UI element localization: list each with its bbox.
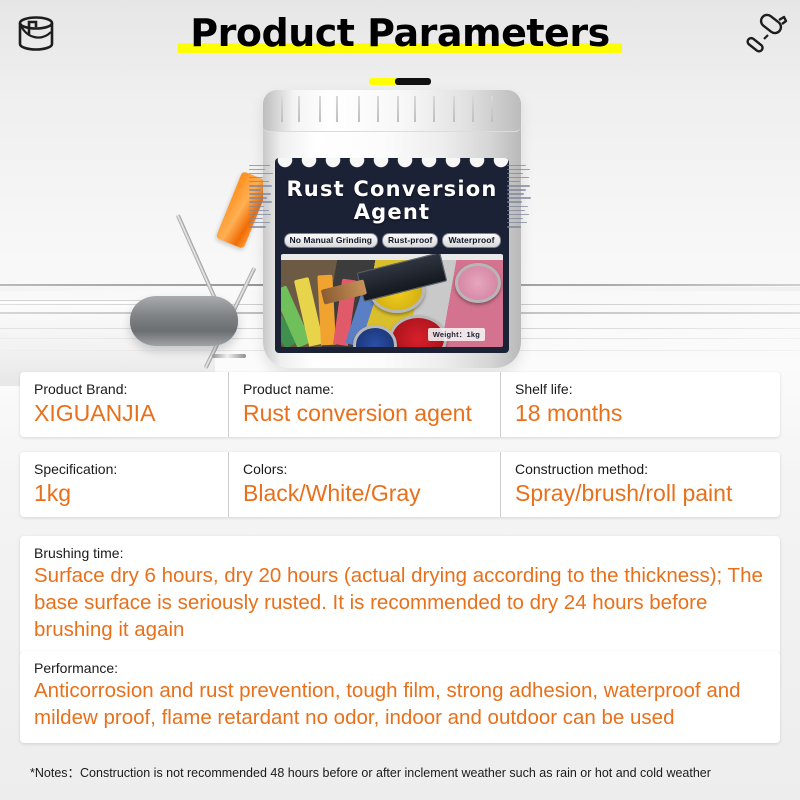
label-title: Rust Conversion Agent xyxy=(275,178,509,224)
paint-roller-icon xyxy=(738,8,790,60)
param-label: Performance: xyxy=(34,659,766,677)
param-value: Black/White/Gray xyxy=(243,478,500,508)
bucket-rim-ridges xyxy=(271,96,513,124)
label-badge: Waterproof xyxy=(442,233,500,248)
param-label: Construction method: xyxy=(515,460,780,478)
param-label: Product name: xyxy=(243,380,500,398)
label-wave-edge xyxy=(275,158,509,168)
page-title-text: Product Parameters xyxy=(190,11,609,55)
param-cell-shelf-life: Shelf life: 18 months xyxy=(500,372,780,437)
param-value: Rust conversion agent xyxy=(243,398,500,428)
page-title: Product Parameters xyxy=(0,6,800,60)
param-cell-product-name: Product name: Rust conversion agent xyxy=(228,372,500,437)
label-badge: No Manual Grinding xyxy=(284,233,379,248)
param-block-brushing-time: Brushing time: Surface dry 6 hours, dry … xyxy=(20,536,780,655)
param-value: 1kg xyxy=(34,478,228,508)
bucket-side-microtext-left xyxy=(249,162,275,352)
weight-tag: Weight：1kg xyxy=(428,328,485,341)
param-cell-product-brand: Product Brand: XIGUANJIA xyxy=(20,372,228,437)
bucket-side-microtext-right xyxy=(507,162,533,352)
header: Product Parameters xyxy=(0,0,800,92)
label-badges: No Manual GrindingRust-proofWaterproof xyxy=(275,230,509,248)
param-cell-colors: Colors: Black/White/Gray xyxy=(228,452,500,517)
param-value: XIGUANJIA xyxy=(34,398,228,428)
param-row-1: Product Brand: XIGUANJIA Product name: R… xyxy=(20,372,780,437)
param-value: Anticorrosion and rust prevention, tough… xyxy=(34,677,766,731)
param-label: Product Brand: xyxy=(34,380,228,398)
param-cell-construction-method: Construction method: Spray/brush/roll pa… xyxy=(500,452,780,517)
param-value: Spray/brush/roll paint xyxy=(515,478,780,508)
param-label: Specification: xyxy=(34,460,228,478)
param-value: Surface dry 6 hours, dry 20 hours (actua… xyxy=(34,562,766,643)
param-block-performance: Performance: Anticorrosion and rust prev… xyxy=(20,651,780,743)
param-value: 18 months xyxy=(515,398,780,428)
param-label: Colors: xyxy=(243,460,500,478)
footer-note: *Notes：Construction is not recommended 4… xyxy=(30,765,770,781)
param-label: Brushing time: xyxy=(34,544,766,562)
label-title-line2: Agent xyxy=(275,201,509,224)
product-bucket-image: TIGUANJIA Rust Conversion Agent No Manua… xyxy=(263,90,521,368)
param-cell-specification: Specification: 1kg xyxy=(20,452,228,517)
product-photo: TIGUANJIA Rust Conversion Agent No Manua… xyxy=(150,80,570,372)
label-badge: Rust-proof xyxy=(382,233,438,248)
product-label: TIGUANJIA Rust Conversion Agent No Manua… xyxy=(275,158,509,353)
param-row-2: Specification: 1kg Colors: Black/White/G… xyxy=(20,452,780,517)
label-photo-strip: Weight：1kg xyxy=(281,254,503,347)
param-label: Shelf life: xyxy=(515,380,780,398)
label-title-line1: Rust Conversion xyxy=(275,178,509,201)
